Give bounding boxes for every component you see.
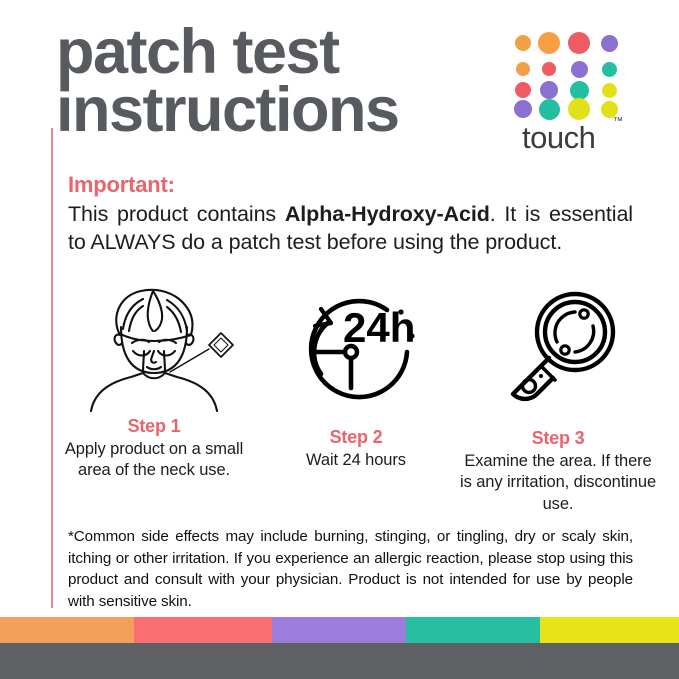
step-1-body: Apply product on a small area of the nec… <box>56 439 252 482</box>
brand-name: touch <box>522 120 595 156</box>
logo-dot <box>571 61 588 78</box>
logo-dot <box>515 35 531 51</box>
footer-color-segment-orange <box>0 617 134 643</box>
disclaimer-text: *Common side effects may include burning… <box>68 526 633 612</box>
footer-color-segment-coral <box>134 617 272 643</box>
footer-color-segment-purple <box>272 617 406 643</box>
clock-24h-label: 24h <box>343 304 415 351</box>
logo-dot <box>568 32 590 54</box>
page-title: patch test instructions <box>56 24 506 140</box>
step-2-body: Wait 24 hours <box>258 450 454 471</box>
footer-color-segment-teal <box>406 617 540 643</box>
logo-dot <box>514 100 532 118</box>
steps-row: Step 1 Apply product on a small area of … <box>56 290 656 515</box>
ingredient-name: Alpha-Hydroxy-Acid <box>285 202 490 226</box>
intro-paragraph: This product contains Alpha-Hydroxy-Acid… <box>68 200 633 257</box>
step-1: Step 1 Apply product on a small area of … <box>56 290 252 515</box>
logo-dot <box>570 81 589 100</box>
logo-dot <box>601 35 618 52</box>
step-3: Step 3 Examine the area. If there is any… <box>460 290 656 515</box>
header: patch test instructions touch ™ <box>0 0 679 170</box>
clock-24h-icon: 24h <box>258 290 454 416</box>
logo-dot <box>515 82 531 98</box>
logo-dot <box>542 62 556 76</box>
logo-dot <box>538 32 560 54</box>
trademark-symbol: ™ <box>613 116 623 127</box>
step-1-title: Step 1 <box>56 416 252 437</box>
logo-dot <box>601 101 618 118</box>
logo-dot <box>540 81 558 99</box>
logo-dot <box>568 98 590 120</box>
title-line-1: patch test <box>56 24 506 82</box>
step-2-title: Step 2 <box>258 427 454 448</box>
logo-dot <box>602 83 617 98</box>
logo-dot <box>539 99 560 120</box>
accent-rule-divider <box>51 128 53 608</box>
footer-bar <box>0 643 679 679</box>
face-towel-patch-icon <box>56 290 252 410</box>
step-2: 24h Step 2 Wait 24 hours <box>258 290 454 515</box>
footer-color-bar <box>0 617 679 643</box>
dot-grid-icon <box>512 32 620 112</box>
brand-logo: touch ™ <box>512 32 642 112</box>
logo-dot <box>516 62 530 76</box>
logo-dot <box>602 62 617 77</box>
step-3-body: Examine the area. If there is any irrita… <box>460 451 656 515</box>
patch-test-instructions-page: patch test instructions touch ™ Importan… <box>0 0 679 679</box>
step-3-title: Step 3 <box>460 428 656 449</box>
magnifying-glass-icon <box>460 290 656 416</box>
footer-color-segment-yellow <box>540 617 679 643</box>
intro-prefix: This product contains <box>68 202 285 226</box>
important-label: Important: <box>68 172 175 198</box>
title-line-2: instructions <box>56 82 506 140</box>
